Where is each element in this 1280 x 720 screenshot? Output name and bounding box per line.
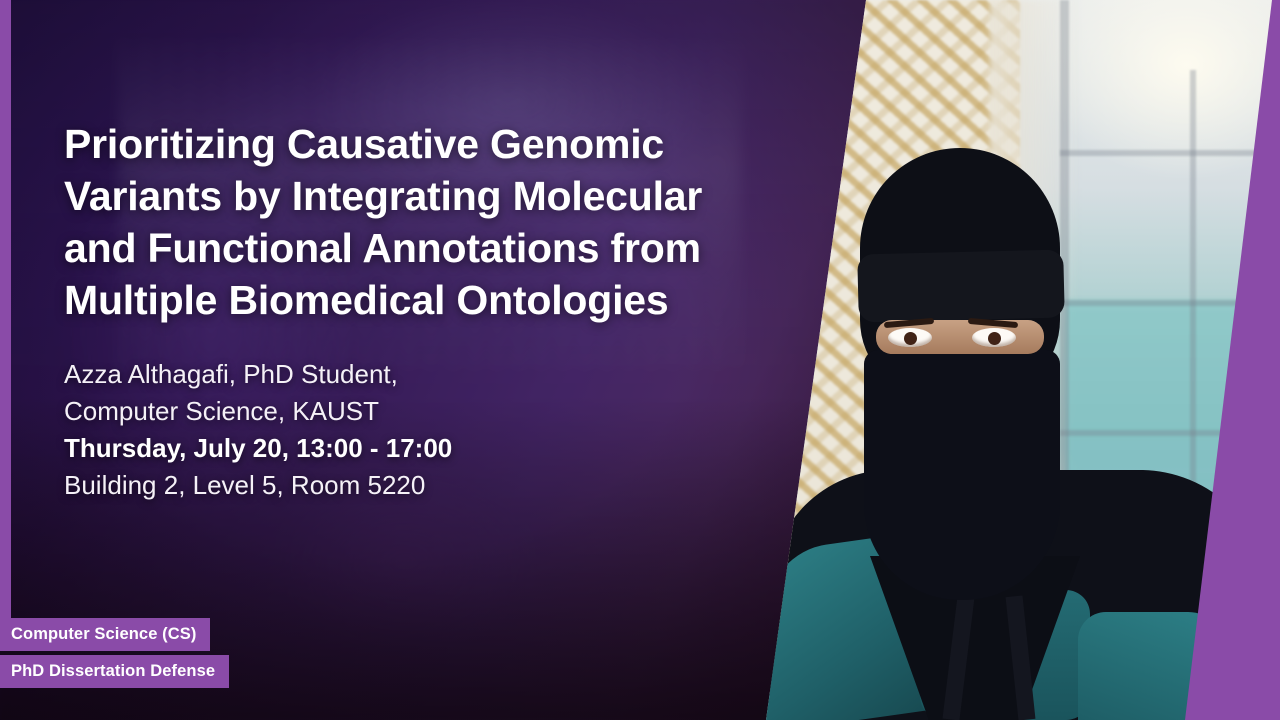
badge-group: Computer Science (CS) PhD Dissertation D… [0,618,229,688]
badge-event-type[interactable]: PhD Dissertation Defense [0,655,229,688]
head-band [857,249,1065,322]
face-veil [864,350,1060,600]
badge-row: PhD Dissertation Defense [0,655,229,688]
talk-title: Prioritizing Causative Genomic Variants … [64,118,754,326]
speaker-affiliation: Computer Science, KAUST [64,393,764,430]
seminar-announcement-slide: Prioritizing Causative Genomic Variants … [0,0,1280,720]
pupil [988,332,1001,345]
speaker-name: Azza Althagafi, PhD Student, [64,356,764,393]
talk-datetime: Thursday, July 20, 13:00 - 17:00 [64,430,764,467]
left-accent-rail [0,0,11,622]
pupil [904,332,917,345]
slide-content: Prioritizing Causative Genomic Variants … [64,118,764,504]
talk-location: Building 2, Level 5, Room 5220 [64,467,764,504]
badge-department[interactable]: Computer Science (CS) [0,618,210,651]
badge-row: Computer Science (CS) [0,618,229,651]
talk-meta: Azza Althagafi, PhD Student, Computer Sc… [64,356,764,504]
